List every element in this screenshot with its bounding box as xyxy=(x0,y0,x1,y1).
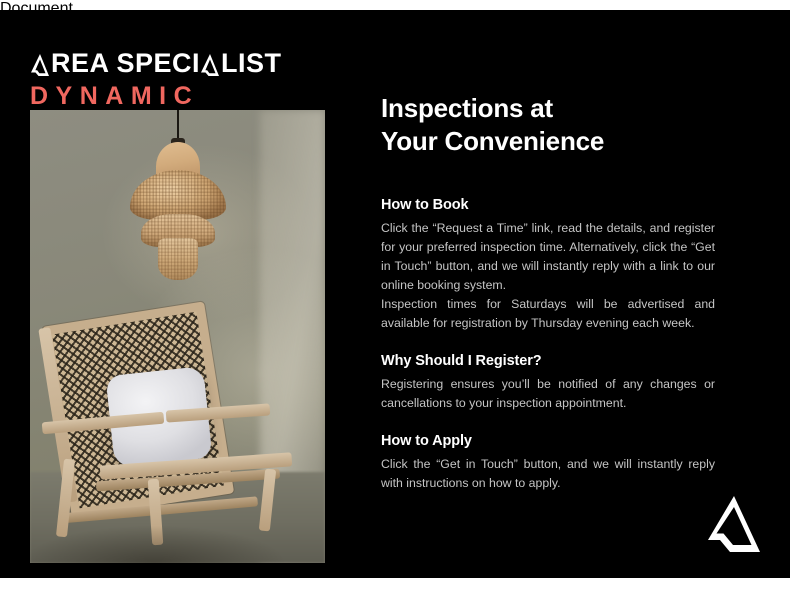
page-title-line2: Your Convenience xyxy=(381,126,604,156)
section-why-register: Why Should I Register? Registering ensur… xyxy=(381,353,715,413)
section-paragraph: Registering ensures you’ll be notified o… xyxy=(381,375,715,413)
logo-wordmark-primary: REA SPECI LIST xyxy=(30,50,330,77)
lounge-chair xyxy=(38,309,306,545)
triangle-a-icon-2 xyxy=(200,53,220,77)
logo-text-rest: REA SPECI xyxy=(51,50,200,77)
section-how-to-book: How to Book Click the “Request a Time” l… xyxy=(381,197,715,333)
logo-wordmark-secondary: DYNAMIC xyxy=(30,84,330,109)
section-heading: Why Should I Register? xyxy=(381,353,715,369)
photo-floor-shadow xyxy=(30,511,325,563)
section-paragraph: Click the “Get in Touch” button, and we … xyxy=(381,455,715,493)
interior-photo xyxy=(30,110,325,563)
lamp-cord xyxy=(177,110,179,140)
logo-text-rest2: LIST xyxy=(221,50,282,77)
lamp-tier-drum xyxy=(158,238,198,280)
area-specialist-a-monogram-icon xyxy=(706,494,762,556)
triangle-a-icon xyxy=(30,53,50,77)
slide-canvas: REA SPECI LIST DYNAMIC xyxy=(0,10,790,578)
brand-logo: REA SPECI LIST DYNAMIC xyxy=(30,50,330,109)
page-title-line1: Inspections at xyxy=(381,93,553,123)
section-paragraph-2: Inspection times for Saturdays will be a… xyxy=(381,295,715,333)
section-heading: How to Apply xyxy=(381,433,715,449)
section-heading: How to Book xyxy=(381,197,715,213)
section-how-to-apply: How to Apply Click the “Get in Touch” bu… xyxy=(381,433,715,493)
content-column: Inspections at Your Convenience How to B… xyxy=(381,92,715,513)
section-paragraph: Click the “Request a Time” link, read th… xyxy=(381,219,715,295)
page-title: Inspections at Your Convenience xyxy=(381,92,715,159)
